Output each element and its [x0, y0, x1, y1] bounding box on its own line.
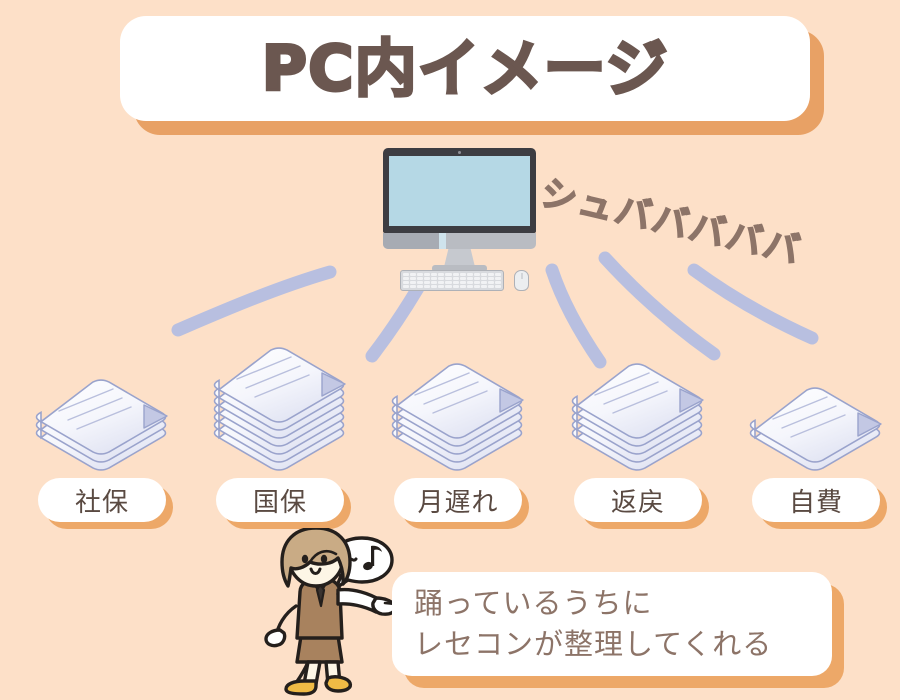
- motion-streak-icon: [552, 270, 600, 362]
- webcam-icon: [458, 151, 461, 154]
- paper-stack-group[interactable]: 自費: [726, 378, 900, 522]
- keyboard-key: [460, 277, 466, 280]
- caption-line-2: レセコンが整理してくれる: [414, 624, 832, 665]
- onomatopoeia-group: シュバババババ: [548, 158, 818, 268]
- motion-streak-icon: [178, 272, 330, 330]
- keyboard-key: [488, 277, 494, 280]
- keyboard-key: [481, 285, 487, 288]
- keyboard-key: [488, 285, 494, 288]
- motion-streak-icon: [372, 288, 418, 356]
- keyboard-key: [403, 281, 409, 284]
- keyboard-key: [481, 273, 487, 276]
- title-card: PC内イメージ: [120, 16, 810, 121]
- monitor-chin-accent: [439, 233, 446, 249]
- keyboard-key: [488, 273, 494, 276]
- keyboard-row: [403, 277, 501, 280]
- caption-line-1: 踊っているうちに: [414, 583, 832, 624]
- poster-canvas: PC内イメージ シュバババババ 社保国保月遅れ: [0, 0, 900, 700]
- keyboard-key: [453, 281, 459, 284]
- stack-label[interactable]: 月遅れ: [394, 478, 522, 522]
- keyboard-key: [488, 281, 494, 284]
- keyboard-key: [431, 285, 437, 288]
- paper-stack-group[interactable]: 国保: [190, 338, 370, 522]
- keyboard-key: [410, 273, 416, 276]
- stack-label-pill[interactable]: 月遅れ: [394, 478, 522, 522]
- keyboard-key: [495, 285, 501, 288]
- keyboard-key: [431, 277, 437, 280]
- keyboard-key: [403, 285, 409, 288]
- keyboard-key: [431, 281, 437, 284]
- keyboard-key: [460, 285, 466, 288]
- keyboard-key: [495, 277, 501, 280]
- keyboard-key: [460, 273, 466, 276]
- keyboard-key: [410, 277, 416, 280]
- stack-label[interactable]: 自費: [752, 478, 880, 522]
- keyboard-row: [403, 273, 501, 276]
- keyboard-key: [417, 273, 423, 276]
- keyboard-row: [403, 285, 501, 288]
- keyboard-key: [438, 285, 444, 288]
- paper-stack-art: [190, 338, 370, 478]
- keyboard-key: [453, 273, 459, 276]
- paper-stack-icon: [204, 338, 354, 478]
- stack-label-pill[interactable]: 国保: [216, 478, 344, 522]
- keyboard-icon: [400, 270, 504, 291]
- stack-label-pill[interactable]: 社保: [38, 478, 166, 522]
- desktop-computer-icon: [383, 148, 543, 280]
- paper-stack-icon: [382, 354, 532, 478]
- stack-label-text: 月遅れ: [417, 482, 498, 519]
- caption-card: 踊っているうちに レセコンが整理してくれる: [392, 572, 832, 676]
- stack-label-text: 社保: [75, 482, 129, 519]
- stack-label-text: 国保: [253, 482, 307, 519]
- keyboard-key: [467, 277, 473, 280]
- keyboard-key: [431, 273, 437, 276]
- keyboard-key: [481, 281, 487, 284]
- keyboard-key: [495, 273, 501, 276]
- keyboard-key: [474, 273, 480, 276]
- caption-box: 踊っているうちに レセコンが整理してくれる: [392, 572, 832, 676]
- stack-label-text: 自費: [789, 482, 843, 519]
- keyboard-row: [403, 281, 501, 284]
- keyboard-key: [445, 281, 451, 284]
- paper-stack-art: [726, 378, 900, 478]
- keyboard-key: [467, 281, 473, 284]
- keyboard-key: [438, 281, 444, 284]
- stack-label[interactable]: 国保: [216, 478, 344, 522]
- keyboard-key: [460, 281, 466, 284]
- keyboard-key: [403, 273, 409, 276]
- keyboard-key: [474, 277, 480, 280]
- keyboard-key: [474, 281, 480, 284]
- monitor-screen: [389, 156, 530, 226]
- keyboard-key: [445, 285, 451, 288]
- keyboard-key: [424, 285, 430, 288]
- paper-stack-group[interactable]: 返戻: [548, 354, 728, 522]
- motion-streak-icon: [694, 270, 812, 338]
- office-worker-character-icon: [258, 528, 408, 696]
- title-banner: PC内イメージ: [120, 16, 810, 121]
- keyboard-key: [410, 285, 416, 288]
- keyboard-key: [417, 285, 423, 288]
- keyboard-key: [417, 281, 423, 284]
- keyboard-key: [424, 277, 430, 280]
- stack-label-pill[interactable]: 返戻: [574, 478, 702, 522]
- keyboard-key: [438, 273, 444, 276]
- keyboard-key: [424, 273, 430, 276]
- stack-label-text: 返戻: [611, 482, 665, 519]
- paper-stack-art: [12, 370, 192, 478]
- page-title: PC内イメージ: [262, 38, 669, 100]
- stack-label[interactable]: 社保: [38, 478, 166, 522]
- paper-stack-icon: [562, 354, 712, 478]
- keyboard-key: [481, 277, 487, 280]
- keyboard-key: [453, 277, 459, 280]
- paper-stack-group[interactable]: 社保: [12, 370, 192, 522]
- keyboard-key: [403, 277, 409, 280]
- paper-stack-icon: [740, 378, 890, 478]
- keyboard-key: [445, 277, 451, 280]
- keyboard-key: [474, 285, 480, 288]
- paper-stack-art: [548, 354, 728, 478]
- mouse-icon: [514, 270, 529, 291]
- keyboard-key: [453, 285, 459, 288]
- paper-stack-art: [368, 354, 548, 478]
- keyboard-key: [467, 285, 473, 288]
- stack-label-pill[interactable]: 自費: [752, 478, 880, 522]
- keyboard-key: [410, 281, 416, 284]
- keyboard-key: [467, 273, 473, 276]
- keyboard-key: [438, 277, 444, 280]
- keyboard-key: [424, 281, 430, 284]
- keyboard-key: [495, 281, 501, 284]
- keyboard-key: [445, 273, 451, 276]
- paper-stack-group[interactable]: 月遅れ: [368, 354, 548, 522]
- stack-label[interactable]: 返戻: [574, 478, 702, 522]
- keyboard-key: [417, 277, 423, 280]
- onomatopoeia-text: シュバババババ: [536, 164, 807, 275]
- motion-streak-icon: [605, 258, 714, 354]
- paper-stack-icon: [26, 370, 176, 478]
- monitor-chin-shade: [383, 233, 439, 249]
